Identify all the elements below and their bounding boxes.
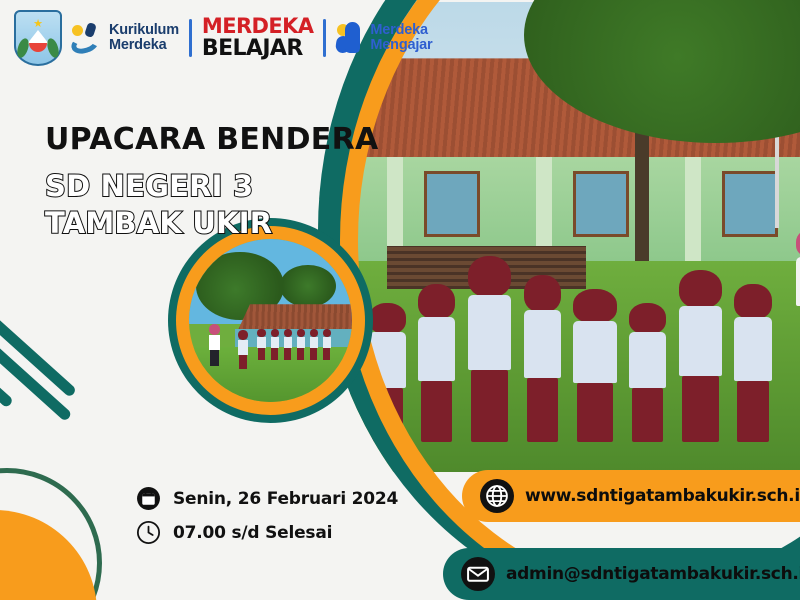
merdeka-belajar-line2: BELAJAR: [202, 38, 314, 60]
partner-logo-bar: ★ Kurikulum Merdeka MERDEKA BELAJAR: [0, 0, 432, 66]
student-figure: [284, 329, 292, 360]
merdeka-mengajar-logo: Merdeka Mengajar: [336, 22, 432, 54]
clock-icon: [136, 520, 161, 545]
student-figure: [310, 329, 318, 360]
logo-divider: [323, 19, 326, 57]
website-badge[interactable]: www.sdntigatambakukir.sch.id: [462, 470, 800, 522]
school-roof: [238, 304, 352, 330]
envelope-icon: [461, 557, 495, 591]
student-figure: [271, 329, 279, 360]
event-date-row: Senin, 26 Februari 2024: [136, 486, 398, 511]
email-badge[interactable]: admin@sdntigatambakukir.sch.id: [443, 548, 800, 600]
merdeka-mengajar-line1: Merdeka: [370, 23, 432, 38]
kurikulum-merdeka-logo-icon: [72, 22, 102, 54]
email-address[interactable]: admin@sdntigatambakukir.sch.id: [506, 564, 800, 584]
kurikulum-merdeka-logo: Kurikulum Merdeka: [72, 22, 179, 54]
globe-icon: [480, 479, 514, 513]
event-details: Senin, 26 Februari 2024 07.00 s/d Selesa…: [136, 486, 398, 554]
inset-ceremony-photo: [189, 239, 352, 402]
event-date: Senin, 26 Februari 2024: [173, 489, 398, 509]
student-figure: [257, 329, 265, 360]
calendar-icon: [136, 486, 161, 511]
event-time-row: 07.00 s/d Selesai: [136, 520, 398, 545]
student-figure: [238, 330, 248, 369]
merdeka-belajar-logo: MERDEKA BELAJAR: [202, 16, 314, 60]
regency-emblem-icon: ★: [14, 10, 62, 66]
logo-divider: [189, 19, 192, 57]
decorative-diagonal-line: [0, 289, 77, 398]
tree-canopy: [280, 265, 335, 307]
student-figure: [323, 329, 331, 360]
poster-canvas: ★ Kurikulum Merdeka MERDEKA BELAJAR: [0, 0, 800, 600]
website-url[interactable]: www.sdntigatambakukir.sch.id: [525, 486, 800, 506]
school-wall: [235, 329, 352, 349]
kurikulum-merdeka-line1: Kurikulum: [109, 23, 179, 38]
merdeka-mengajar-logo-icon: [336, 22, 364, 54]
page-title: UPACARA BENDERA: [45, 122, 379, 157]
kurikulum-merdeka-line2: Merdeka: [109, 38, 179, 53]
merdeka-belajar-line1: MERDEKA: [202, 16, 314, 37]
student-figure: [297, 329, 305, 360]
merdeka-mengajar-line2: Mengajar: [370, 38, 432, 53]
page-subtitle: SD NEGERI 3 TAMBAK UKIR: [45, 168, 375, 242]
event-time: 07.00 s/d Selesai: [173, 523, 332, 543]
teacher-figure: [209, 324, 220, 366]
